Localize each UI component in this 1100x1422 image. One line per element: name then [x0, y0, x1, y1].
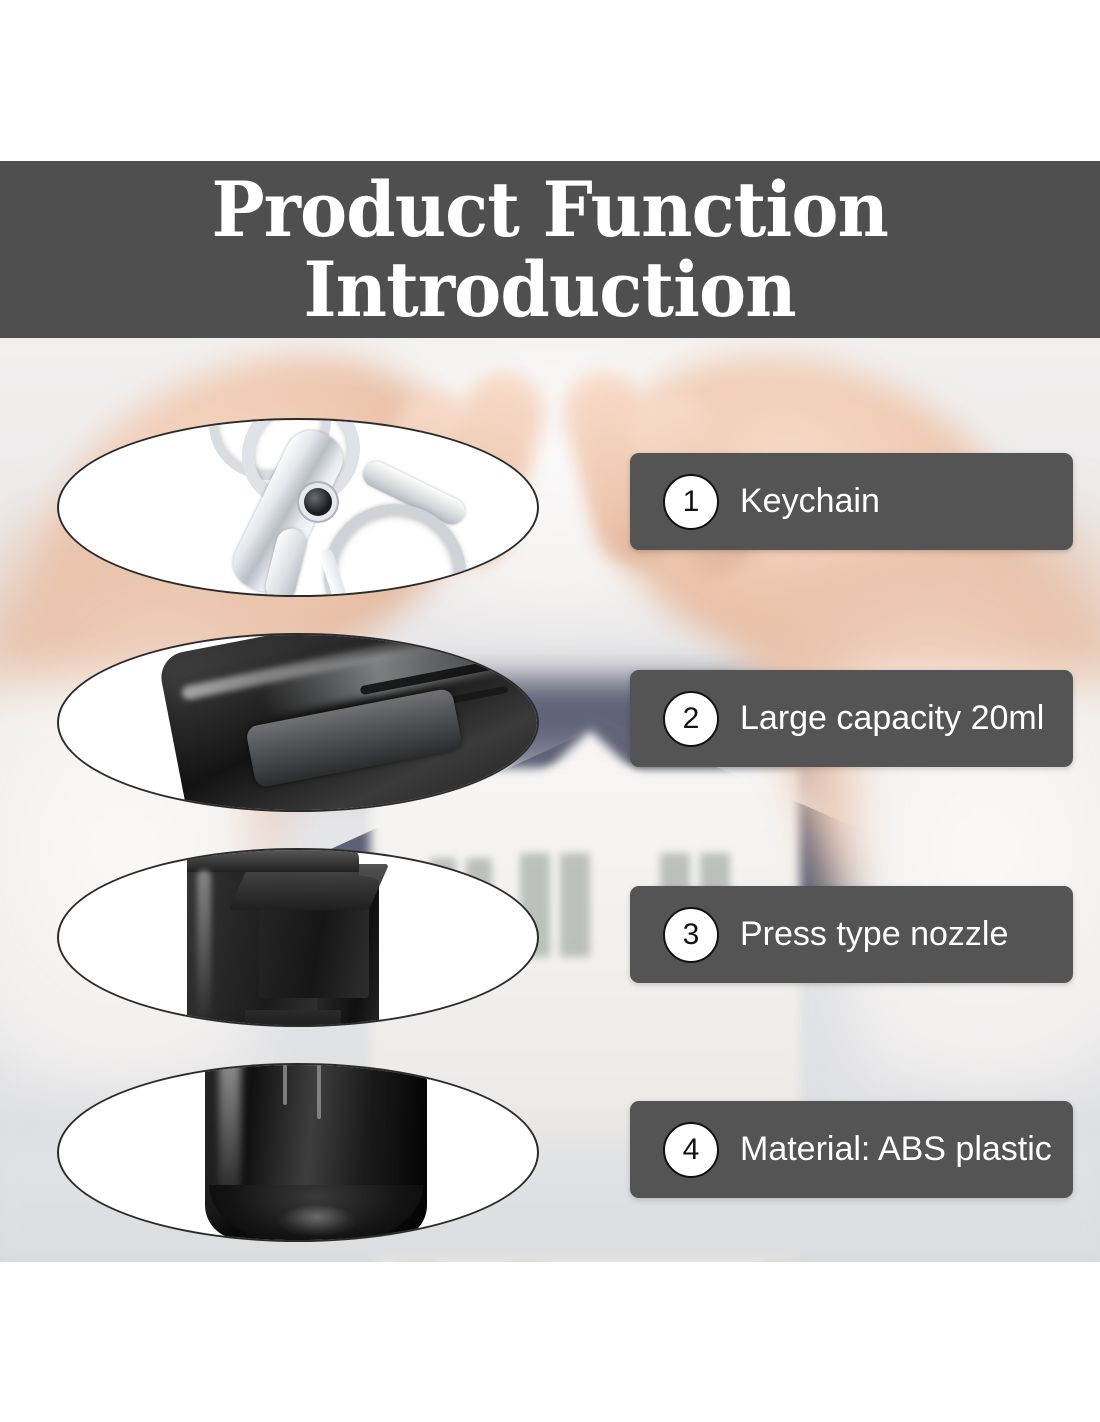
house-window [560, 853, 590, 957]
page-title-line-2: Introduction [304, 250, 796, 330]
bottle-base-seam [317, 1063, 321, 1119]
feature-label-2: Large capacity 20ml [740, 699, 1044, 738]
feature-label-4: Material: ABS plastic [740, 1130, 1052, 1169]
callout-oval-material [57, 1063, 539, 1242]
feature-number-badge-4: 4 [663, 1122, 719, 1178]
nozzle-highlight [197, 870, 211, 1020]
page-title-line-1: Product Function [212, 170, 889, 250]
press-nozzle-icon [59, 850, 537, 1025]
feature-number-badge-1: 1 [663, 474, 719, 530]
callout-oval-nozzle [57, 848, 539, 1027]
bottle-base-dimple [277, 1205, 357, 1235]
bottle-barrel-icon [59, 635, 537, 810]
feature-label-1: Keychain [740, 482, 880, 521]
feature-bar-4[interactable]: 4 Material: ABS plastic [630, 1101, 1073, 1198]
nozzle-lip [187, 850, 359, 872]
callout-oval-capacity [57, 633, 539, 812]
feature-number-badge-2: 2 [663, 691, 719, 747]
feature-bar-1[interactable]: 1 Keychain [630, 453, 1073, 550]
title-banner: Product Function Introduction [0, 161, 1100, 338]
bottle-base-icon [59, 1065, 537, 1240]
infographic-page: Product Function Introduction [0, 0, 1100, 1422]
keychain-clasp-icon [59, 420, 537, 595]
clasp-pivot-rivet [304, 488, 332, 516]
feature-number-badge-3: 3 [663, 907, 719, 963]
bottle-base-seam [283, 1063, 287, 1105]
callout-oval-keychain [57, 418, 539, 597]
feature-label-3: Press type nozzle [740, 915, 1008, 954]
feature-bar-2[interactable]: 2 Large capacity 20ml [630, 670, 1073, 767]
feature-bar-3[interactable]: 3 Press type nozzle [630, 886, 1073, 983]
nozzle-stem [245, 1010, 341, 1027]
